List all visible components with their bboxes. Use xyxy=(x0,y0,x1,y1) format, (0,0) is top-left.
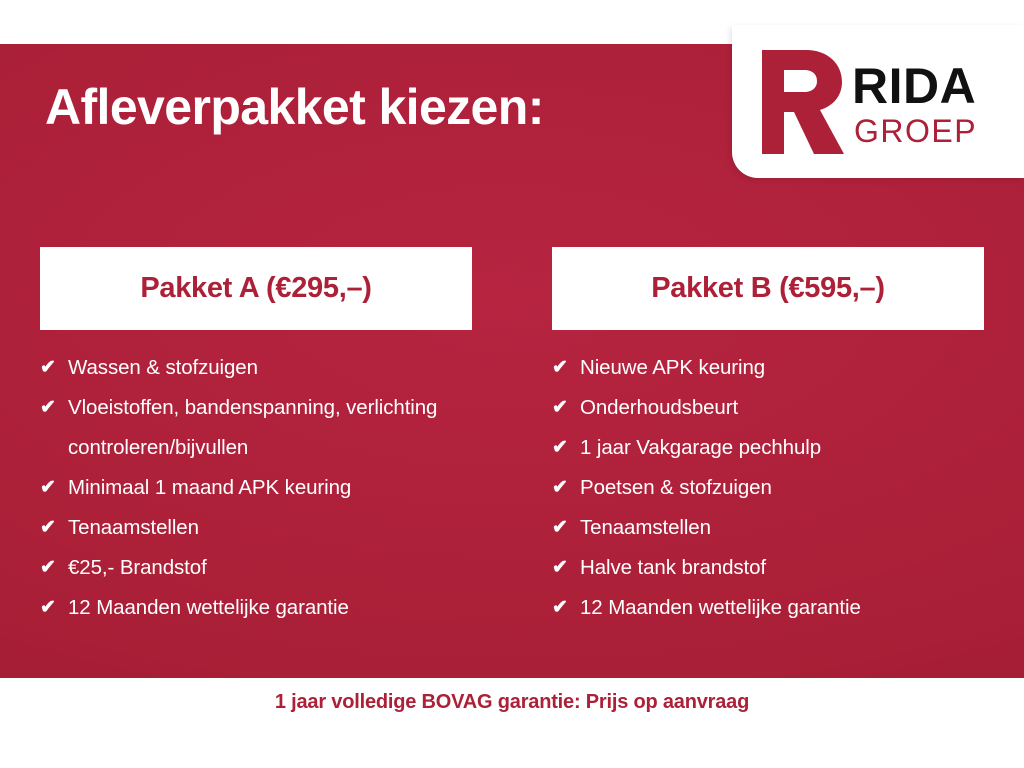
page-title: Afleverpakket kiezen: xyxy=(45,78,544,136)
list-item: ✔ Vloeistoffen, bandenspanning, verlicht… xyxy=(40,388,472,468)
list-item: ✔ Tenaamstellen xyxy=(40,508,472,548)
package-a-title: Pakket A (€295,–) xyxy=(140,272,371,305)
list-item-label: 12 Maanden wettelijke garantie xyxy=(68,588,472,628)
list-item-label: €25,- Brandstof xyxy=(68,548,472,588)
list-item: ✔ Poetsen & stofzuigen xyxy=(552,468,984,508)
logo-secondary-text: GROEP xyxy=(852,115,977,147)
list-item-label: Minimaal 1 maand APK keuring xyxy=(68,468,472,508)
list-item: ✔ 12 Maanden wettelijke garantie xyxy=(40,588,472,628)
list-item: ✔ Onderhoudsbeurt xyxy=(552,388,984,428)
check-icon: ✔ xyxy=(40,588,68,628)
list-item-label: Poetsen & stofzuigen xyxy=(580,468,984,508)
package-a-feature-list: ✔ Wassen & stofzuigen ✔ Vloeistoffen, ba… xyxy=(40,348,472,628)
list-item-label: 1 jaar Vakgarage pechhulp xyxy=(580,428,984,468)
check-icon: ✔ xyxy=(552,508,580,548)
package-b-header-card[interactable]: Pakket B (€595,–) xyxy=(552,247,984,330)
list-item-label: Tenaamstellen xyxy=(580,508,984,548)
check-icon: ✔ xyxy=(552,548,580,588)
list-item: ✔ Halve tank brandstof xyxy=(552,548,984,588)
footer-note: 1 jaar volledige BOVAG garantie: Prijs o… xyxy=(275,691,749,714)
check-icon: ✔ xyxy=(40,468,68,508)
logo-primary-text: RIDA xyxy=(852,61,977,111)
package-column-a: Pakket A (€295,–) ✔ Wassen & stofzuigen … xyxy=(0,247,512,628)
package-b-title: Pakket B (€595,–) xyxy=(651,272,885,305)
check-icon: ✔ xyxy=(40,508,68,548)
list-item: ✔ €25,- Brandstof xyxy=(40,548,472,588)
list-item: ✔ 1 jaar Vakgarage pechhulp xyxy=(552,428,984,468)
footer-banner: 1 jaar volledige BOVAG garantie: Prijs o… xyxy=(0,678,1024,768)
list-item: ✔ Minimaal 1 maand APK keuring xyxy=(40,468,472,508)
list-item-label: Wassen & stofzuigen xyxy=(68,348,472,388)
brand-logo: RIDA GROEP xyxy=(732,25,1024,178)
check-icon: ✔ xyxy=(552,428,580,468)
list-item-label: Tenaamstellen xyxy=(68,508,472,548)
check-icon: ✔ xyxy=(552,388,580,428)
check-icon: ✔ xyxy=(552,468,580,508)
check-icon: ✔ xyxy=(552,588,580,628)
logo-wordmark: RIDA GROEP xyxy=(852,57,977,147)
list-item: ✔ Tenaamstellen xyxy=(552,508,984,548)
package-columns: Pakket A (€295,–) ✔ Wassen & stofzuigen … xyxy=(0,247,1024,628)
package-a-header-card[interactable]: Pakket A (€295,–) xyxy=(40,247,472,330)
check-icon: ✔ xyxy=(552,348,580,388)
list-item-label: Nieuwe APK keuring xyxy=(580,348,984,388)
list-item-label: Onderhoudsbeurt xyxy=(580,388,984,428)
package-column-b: Pakket B (€595,–) ✔ Nieuwe APK keuring ✔… xyxy=(512,247,1024,628)
list-item: ✔ Nieuwe APK keuring xyxy=(552,348,984,388)
list-item-label: 12 Maanden wettelijke garantie xyxy=(580,588,984,628)
list-item: ✔ Wassen & stofzuigen xyxy=(40,348,472,388)
check-icon: ✔ xyxy=(40,348,68,388)
rida-r-monogram-icon xyxy=(754,48,846,156)
list-item-label: Vloeistoffen, bandenspanning, verlichtin… xyxy=(68,388,472,468)
slide-root: RIDA GROEP Afleverpakket kiezen: Pakket … xyxy=(0,0,1024,768)
list-item-label: Halve tank brandstof xyxy=(580,548,984,588)
check-icon: ✔ xyxy=(40,388,68,428)
package-b-feature-list: ✔ Nieuwe APK keuring ✔ Onderhoudsbeurt ✔… xyxy=(552,348,984,628)
check-icon: ✔ xyxy=(40,548,68,588)
list-item: ✔ 12 Maanden wettelijke garantie xyxy=(552,588,984,628)
